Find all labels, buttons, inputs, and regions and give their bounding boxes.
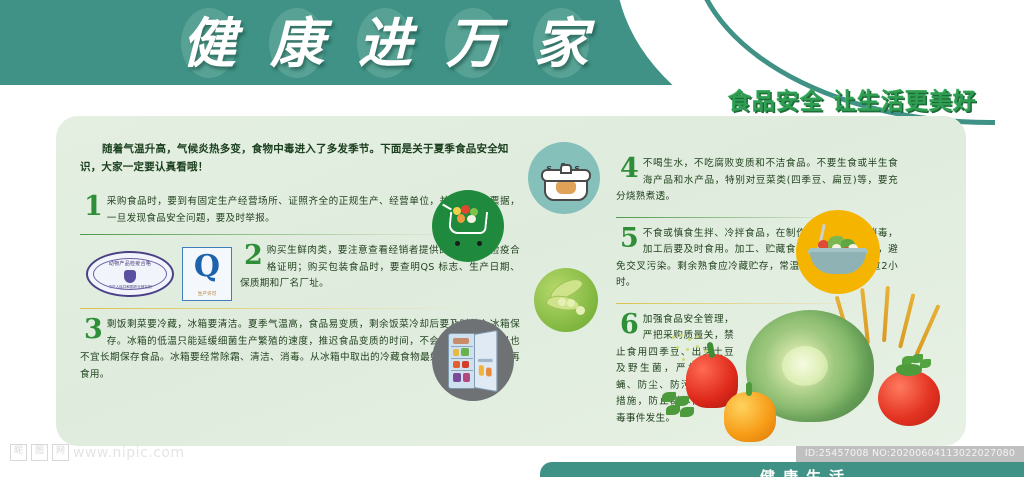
wheat-4 [898,293,915,348]
tip-number-1: 1 [84,196,103,219]
header-slogan: 食品安全 让生活更美好 [728,82,977,116]
page-title: 健 康 进 万 家 [170,2,600,84]
door-bottle-2 [486,367,492,376]
tomato [878,370,940,426]
green-beans-icon [534,268,598,332]
salad-bowl-base [810,252,866,274]
fridge-food-6 [453,373,461,382]
basil-sprig [662,392,696,422]
tip-number-2: 2 [244,245,263,268]
tomato-stem [896,364,922,376]
refrigerator-icon [432,319,514,401]
fridge-food-4 [453,361,460,368]
tip-number-4: 4 [620,158,639,181]
quarantine-stamp-icon: 动物产品检疫合格 中华人民共和国农业部监制 [86,251,174,297]
pot-knob [560,164,572,174]
divider-1 [80,234,480,235]
cart-veg-2 [461,205,470,214]
title-char-4: 万 [434,4,512,82]
tip-text-4: 不喝生水，不吃腐败变质和不洁食品。不要生食或半生食海产品和水产品，特别对豆菜类(… [616,156,898,206]
shopping-cart-icon [432,190,504,262]
bottom-band-text: 健康生活 [760,466,852,477]
fridge-food-7 [463,373,470,382]
title-char-5-text: 家 [534,16,588,70]
wheat-3 [882,286,890,342]
bean-bead-2 [567,299,575,307]
tip-number-3: 3 [84,319,103,342]
refrigerator-glyph [448,333,498,387]
cabbage-heart [782,346,828,386]
vegetable-photo [660,288,970,448]
intro-paragraph: 随着气温升高，气候炎热多变，食物中毒进入了多发季节。下面是关于夏季食品安全知识，… [80,140,512,177]
fridge-food-1 [453,338,469,344]
cart-wheel-right [477,241,482,246]
door-bottle-1 [479,365,484,376]
cooking-pot-glyph: ʂ ʂ ʂ [540,162,588,202]
fridge-shelf-3 [451,370,473,371]
tip-item-4: 4 不喝生水，不吃腐败变质和不洁食品。不要生食或半生食海产品和水产品，特别对豆菜… [616,156,946,206]
fridge-shelf-2 [451,358,473,359]
qs-license-icon: Q 生产许可 [182,247,232,301]
tip-number-6: 6 [620,314,639,337]
cart-handle [442,204,452,211]
cart-wheel-left [455,241,460,246]
watermark-mark-2: 图 [31,444,48,461]
fridge-body [448,333,476,389]
certification-marks: 动物产品检疫合格 中华人民共和国农业部监制 Q 生产许可 [82,245,232,301]
qs-letter: Q [183,252,231,282]
title-char-2-text: 康 [270,16,324,70]
qs-caption: 生产许可 [183,291,231,297]
wheat-5 [914,304,940,357]
title-char-1-text: 健 [182,16,236,70]
quarantine-stamp-emblem [124,270,136,283]
door-shelf-1 [478,359,493,362]
title-char-3-text: 进 [358,16,412,70]
title-char-5: 家 [522,4,600,82]
watermark: 昵 图 网 www.nipic.com [10,444,185,461]
title-char-4-text: 万 [446,16,500,70]
watermark-url: www.nipic.com [73,445,185,461]
title-char-2: 康 [258,4,336,82]
tip-number-5: 5 [620,228,639,251]
watermark-mark-3: 网 [52,444,69,461]
tip-item-5: 5 不食或慎食生拌、冷拌食品，在制作时要做好清洗消毒，加工后要及时食用。加工、贮… [616,226,946,292]
cart-veg-5 [467,215,476,223]
salad-bowl-glyph [808,238,868,278]
shopping-cart-glyph [445,206,491,246]
fridge-food-5 [462,361,469,368]
bean-bead-1 [558,298,566,306]
salad-bowl-icon [796,210,880,294]
title-char-1: 健 [170,4,248,82]
poster-canvas: 健 康 进 万 家 食品安全 让生活更美好 随着气温升高，气候炎热多变，食物中毒… [0,0,1024,477]
title-char-3: 进 [346,4,424,82]
bean-bead-3 [576,306,585,315]
cooking-pot-icon: ʂ ʂ ʂ [528,142,600,214]
watermark-mark-1: 昵 [10,444,27,461]
fridge-door [474,330,498,393]
fridge-food-2 [453,349,459,356]
quarantine-stamp-bottom-text: 中华人民共和国农业部监制 [88,285,172,290]
pot-food [556,182,576,194]
cart-veg-4 [457,214,465,223]
quarantine-stamp-top-text: 动物产品检疫合格 [88,260,172,267]
orange-pepper-stem [746,382,752,396]
image-id-bar: ID:25457008 NO:20200604113022027080 [796,446,1024,462]
divider-2 [80,308,480,309]
fridge-food-3 [461,348,469,356]
orange-pepper [724,392,776,442]
